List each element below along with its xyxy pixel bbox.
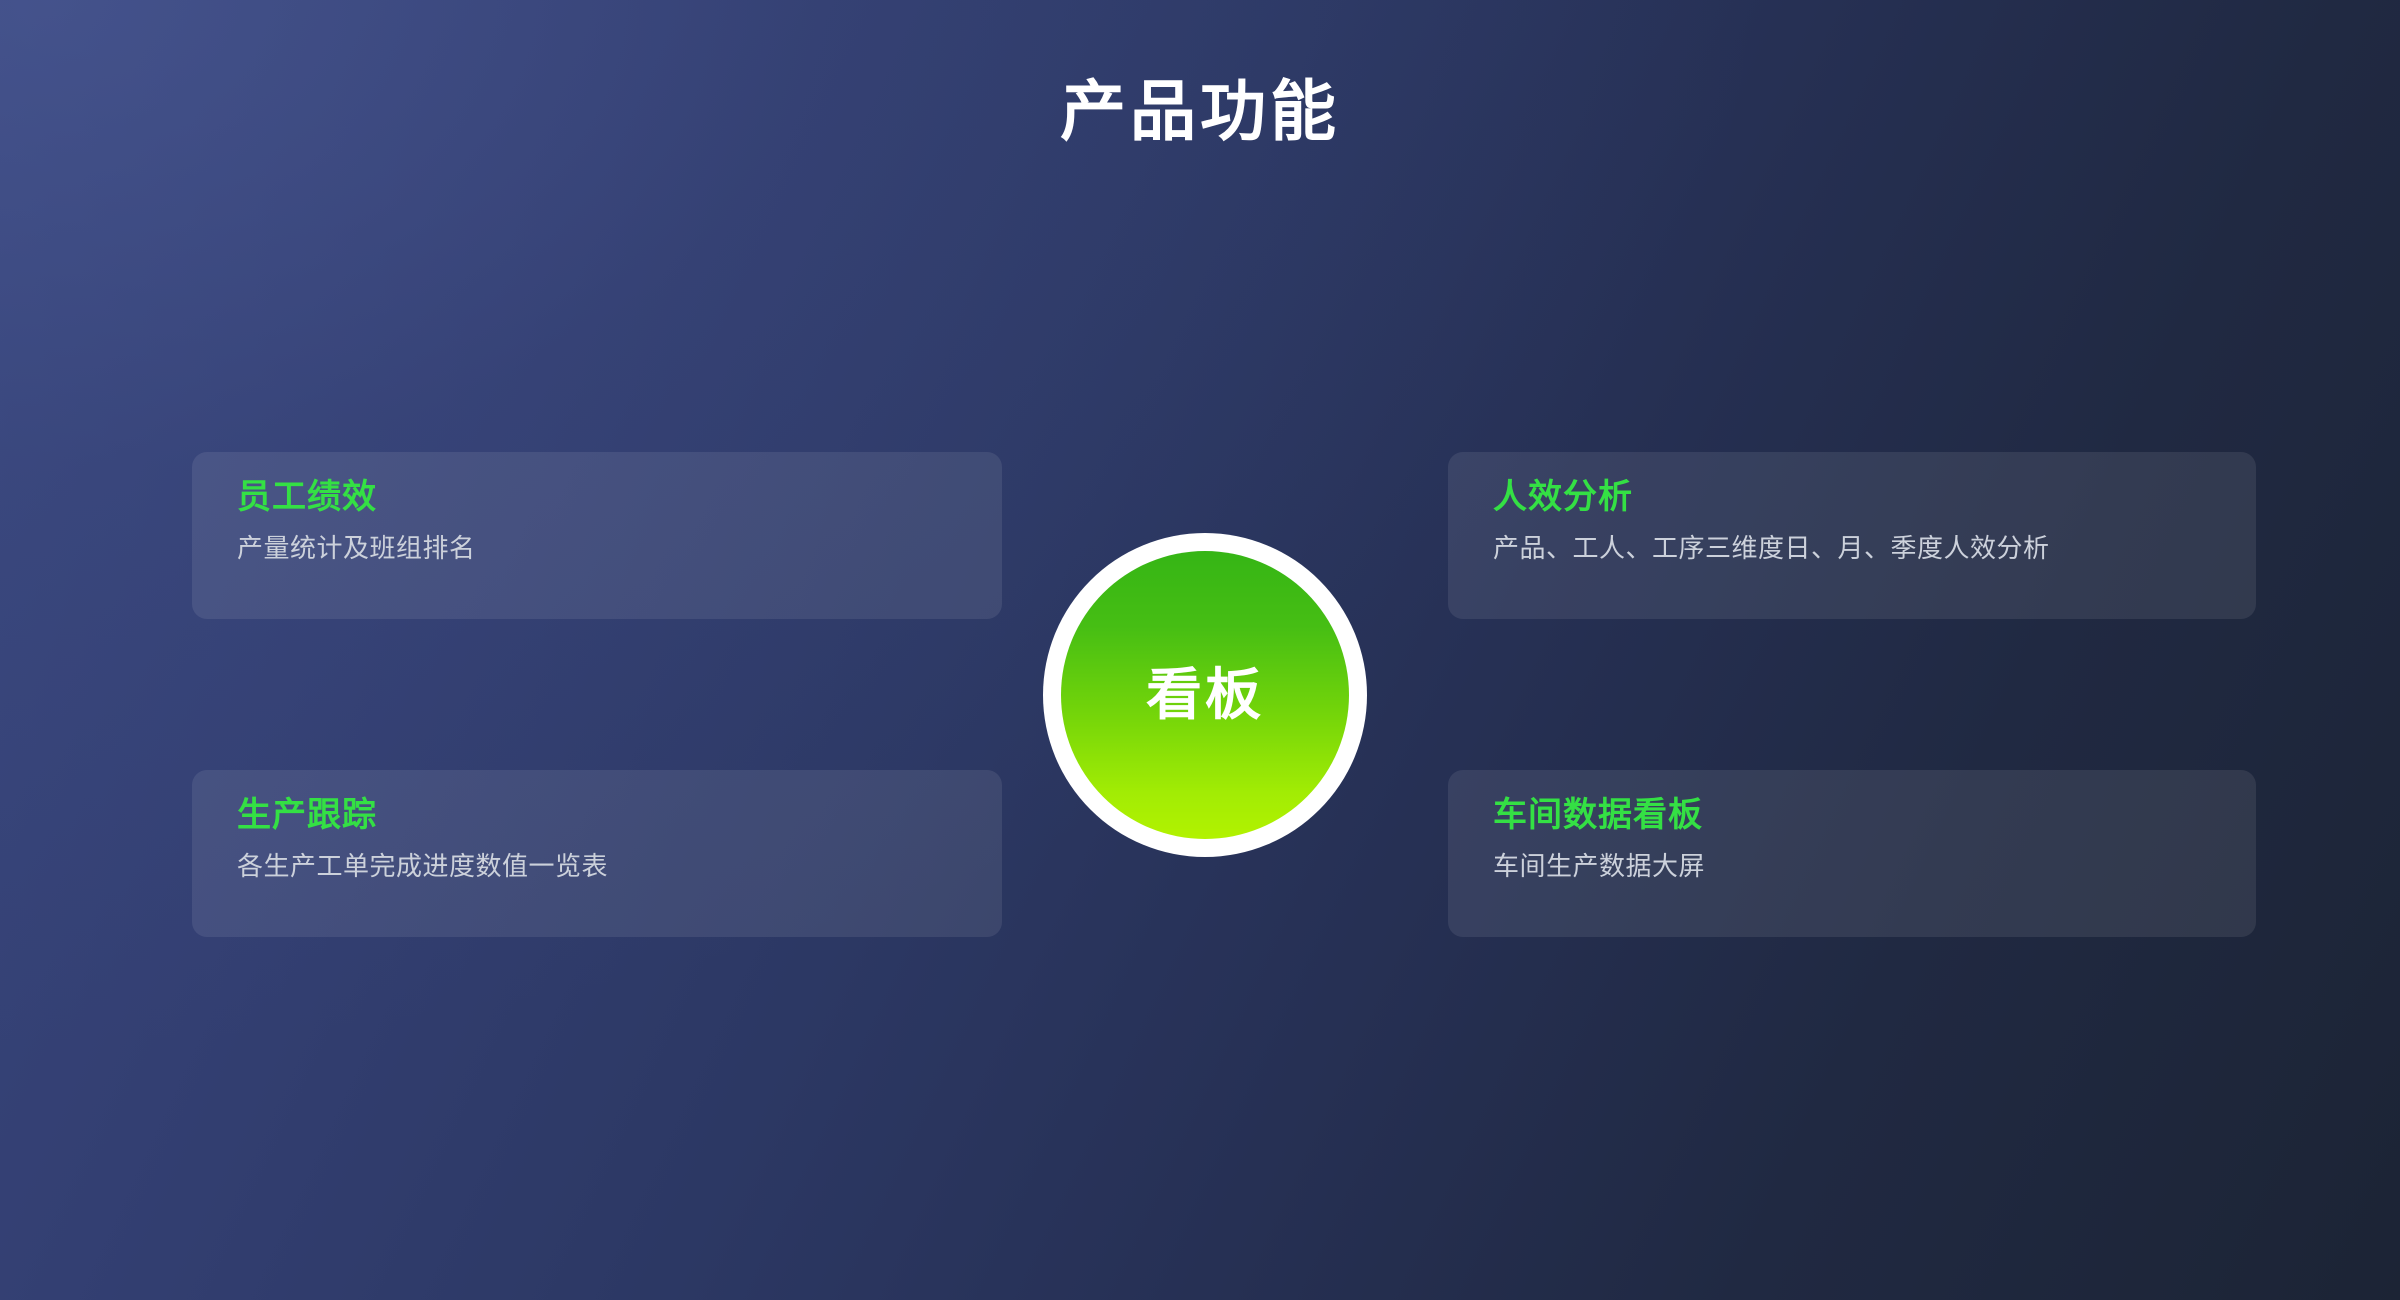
center-hub-label: 看板 — [1146, 667, 1264, 723]
feature-card-title: 人效分析 — [1493, 478, 2256, 517]
feature-card-description: 车间生产数据大屏 — [1493, 851, 2256, 882]
feature-card-workshop-dashboard[interactable]: 车间数据看板 车间生产数据大屏 — [1448, 770, 2256, 937]
center-hub-disc: 看板 — [1061, 551, 1349, 839]
slide-canvas: 产品功能 员工绩效 产量统计及班组排名 人效分析 产品、工人、工序三维度日、月、… — [0, 0, 2400, 1300]
feature-card-description: 产品、工人、工序三维度日、月、季度人效分析 — [1493, 533, 2256, 564]
feature-card-description: 产量统计及班组排名 — [237, 533, 1002, 564]
page-title: 产品功能 — [0, 78, 2400, 144]
feature-card-title: 生产跟踪 — [237, 796, 1002, 835]
feature-card-employee-performance[interactable]: 员工绩效 产量统计及班组排名 — [192, 452, 1002, 619]
feature-card-title: 员工绩效 — [237, 478, 1002, 517]
center-hub-kanban[interactable]: 看板 — [1043, 533, 1367, 857]
feature-card-title: 车间数据看板 — [1493, 796, 2256, 835]
feature-card-production-tracking[interactable]: 生产跟踪 各生产工单完成进度数值一览表 — [192, 770, 1002, 937]
feature-card-efficiency-analysis[interactable]: 人效分析 产品、工人、工序三维度日、月、季度人效分析 — [1448, 452, 2256, 619]
feature-card-description: 各生产工单完成进度数值一览表 — [237, 851, 1002, 882]
